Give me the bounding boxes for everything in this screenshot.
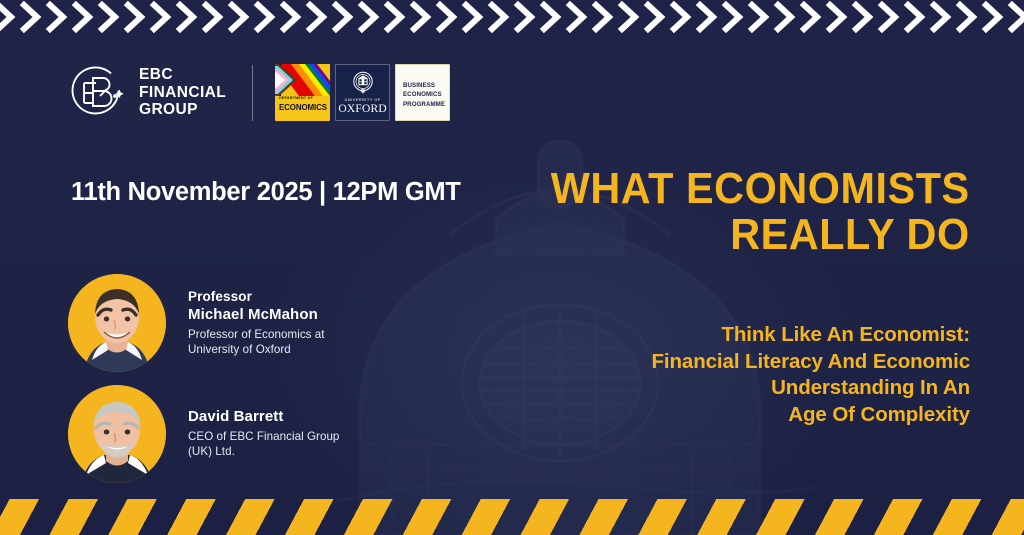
partner-oxford-line-big: OXFORD (336, 104, 389, 116)
partner-logo-university-of-oxford: UNIVERSITY OF OXFORD (335, 64, 390, 121)
speaker-details: David Barrett CEO of EBC Financial Group… (188, 408, 339, 459)
speaker-item: David Barrett CEO of EBC Financial Group… (68, 385, 339, 483)
partner-bep-lines: BUSINESS ECONOMICS PROGRAMME (403, 81, 445, 109)
speaker-details: Professor Michael McMahon Professor of E… (188, 289, 325, 357)
partner-oxford-line-small: UNIVERSITY OF (336, 98, 389, 102)
speaker-role-line1: Professor of Economics at (188, 327, 325, 342)
avatar (68, 274, 166, 372)
chevron-right-pattern (0, 0, 1024, 46)
subtitle-line3: Understanding In An (651, 375, 970, 402)
diagonal-stripe-pattern (0, 499, 1024, 535)
partner-econ-line-big: ECONOMICS (279, 103, 327, 112)
partner-bep-line3: PROGRAMME (403, 100, 445, 109)
speaker-prefix: Professor (188, 289, 325, 306)
logo-row: EBC FINANCIAL GROUP (70, 64, 450, 121)
partner-logo-business-economics-programme: BUSINESS ECONOMICS PROGRAMME (395, 64, 450, 121)
partner-econ-line-small: DEPARTMENT OF (279, 97, 313, 101)
subtitle-line4: Age Of Complexity (651, 402, 970, 429)
subtitle-line2: Financial Literacy And Economic (651, 349, 970, 376)
headline-line1: WHAT ECONOMISTS (551, 166, 970, 212)
ebc-wordmark-line3: GROUP (139, 101, 226, 119)
ebc-wordmark: EBC FINANCIAL GROUP (139, 66, 226, 119)
partner-logos: DEPARTMENT OF ECONOMICS (275, 64, 450, 121)
ebc-financial-group-logo: EBC FINANCIAL GROUP (70, 65, 226, 121)
headline-line2: REALLY DO (551, 212, 970, 258)
page-title: WHAT ECONOMISTS REALLY DO (551, 166, 970, 258)
ebc-monogram-icon (70, 65, 126, 121)
logo-divider (252, 65, 253, 121)
webinar-banner: EBC FINANCIAL GROUP (0, 0, 1024, 535)
ebc-wordmark-line1: EBC (139, 66, 226, 84)
partner-bep-line1: BUSINESS (403, 81, 445, 90)
avatar (68, 385, 166, 483)
speaker-role-line2: University of Oxford (188, 342, 325, 357)
diagonal-stripes (0, 499, 1024, 535)
event-date-time: 11th November 2025 | 12PM GMT (71, 178, 461, 207)
ebc-wordmark-line2: FINANCIAL (139, 84, 226, 102)
speaker-role-line2: (UK) Ltd. (188, 444, 339, 459)
speaker-item: Professor Michael McMahon Professor of E… (68, 274, 339, 372)
subtitle-line1: Think Like An Economist: (651, 322, 970, 349)
progress-pride-flag-icon (275, 64, 330, 96)
partner-logo-department-of-economics: DEPARTMENT OF ECONOMICS (275, 64, 330, 121)
speaker-name: Michael McMahon (188, 306, 325, 325)
event-subtitle: Think Like An Economist: Financial Liter… (651, 322, 970, 429)
partner-bep-line2: ECONOMICS (403, 90, 445, 99)
speaker-list: Professor Michael McMahon Professor of E… (68, 274, 339, 483)
speaker-name: David Barrett (188, 408, 339, 427)
oxford-crest-icon (350, 70, 376, 96)
speaker-role-line1: CEO of EBC Financial Group (188, 429, 339, 444)
